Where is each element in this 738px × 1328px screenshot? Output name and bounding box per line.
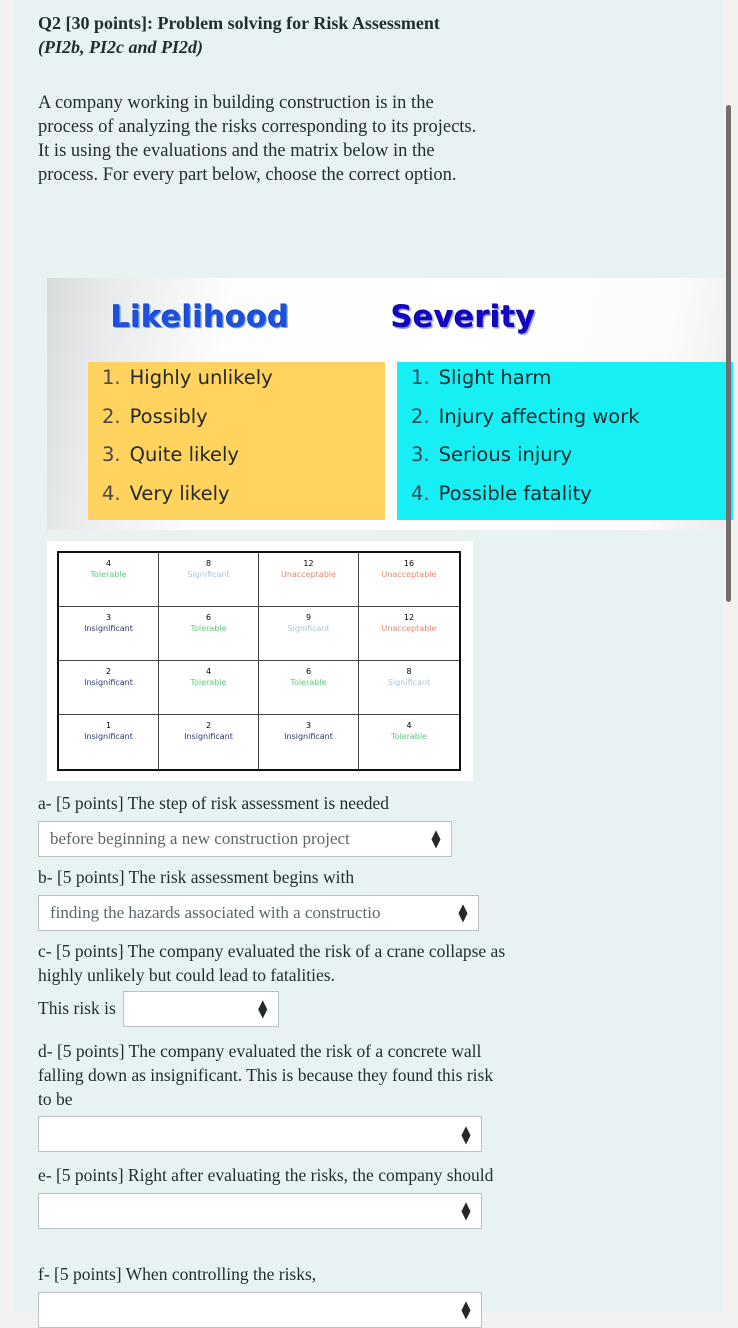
matrix-cell-level: Unacceptable bbox=[259, 570, 358, 581]
question-part-b: b- [5 points] The risk assessment begins… bbox=[38, 866, 508, 931]
severity-item-label: Serious injury bbox=[439, 445, 573, 465]
matrix-cell-value: 12 bbox=[259, 559, 358, 570]
table-cell: 12 Unacceptable bbox=[359, 607, 459, 661]
list-item: 2. Injury affecting work bbox=[397, 407, 733, 446]
list-item: 1. Highly unlikely bbox=[88, 368, 385, 407]
matrix-cell-level: Insignificant bbox=[59, 624, 158, 635]
part-a-prompt: a- [5 points] The step of risk assessmen… bbox=[38, 792, 478, 816]
question-part-e: e- [5 points] Right after evaluating the… bbox=[38, 1164, 508, 1229]
question-part-a: a- [5 points] The step of risk assessmen… bbox=[38, 792, 478, 857]
likelihood-list: 1. Highly unlikely 2. Possibly 3. Quite … bbox=[88, 362, 385, 520]
chevron-updown-icon: ▲▼ bbox=[459, 1124, 473, 1145]
chevron-updown-icon: ▲▼ bbox=[429, 828, 443, 849]
list-item: 4. Very likely bbox=[88, 484, 385, 523]
list-item: 2. Possibly bbox=[88, 407, 385, 446]
question-part-c: c- [5 points] The company evaluated the … bbox=[38, 940, 508, 1027]
table-cell: 2 Insignificant bbox=[159, 715, 259, 769]
table-cell: 12 Unacceptable bbox=[259, 553, 359, 607]
question-part-d: d- [5 points] The company evaluated the … bbox=[38, 1040, 508, 1152]
severity-item-num: 2. bbox=[411, 407, 430, 427]
matrix-cell-level: Insignificant bbox=[59, 732, 158, 743]
part-c-select[interactable]: ▲▼ bbox=[123, 991, 279, 1027]
matrix-cell-level: Tolerable bbox=[159, 678, 258, 689]
likelihood-heading: Likelihood bbox=[111, 300, 290, 335]
part-e-select[interactable]: ▲▼ bbox=[38, 1193, 482, 1229]
matrix-cell-level: Unacceptable bbox=[359, 570, 459, 581]
chevron-updown-icon: ▲▼ bbox=[456, 902, 470, 923]
chevron-updown-icon: ▲▼ bbox=[459, 1200, 473, 1221]
likelihood-item-num: 3. bbox=[102, 445, 121, 465]
table-cell: 6 Tolerable bbox=[159, 607, 259, 661]
list-item: 3. Serious injury bbox=[397, 445, 733, 484]
likelihood-severity-figure: Likelihood Severity 1. Highly unlikely 2… bbox=[47, 278, 723, 530]
table-cell: 3 Insignificant bbox=[259, 715, 359, 769]
matrix-cell-value: 9 bbox=[259, 613, 358, 624]
matrix-cell-value: 6 bbox=[259, 667, 358, 678]
scrollbar-track[interactable] bbox=[725, 0, 736, 1312]
matrix-cell-level: Tolerable bbox=[159, 624, 258, 635]
table-cell: 8 Significant bbox=[359, 661, 459, 715]
table-cell: 4 Tolerable bbox=[59, 553, 159, 607]
severity-item-num: 1. bbox=[411, 368, 430, 388]
matrix-cell-value: 16 bbox=[359, 559, 459, 570]
part-c-prompt: c- [5 points] The company evaluated the … bbox=[38, 940, 508, 988]
part-d-prompt: d- [5 points] The company evaluated the … bbox=[38, 1040, 508, 1111]
matrix-cell-value: 2 bbox=[59, 667, 158, 678]
severity-item-label: Injury affecting work bbox=[439, 407, 640, 427]
matrix-cell-value: 3 bbox=[259, 721, 358, 732]
list-item: 1. Slight harm bbox=[397, 368, 733, 407]
question-part-f: f- [5 points] When controlling the risks… bbox=[38, 1263, 508, 1328]
scrollbar-thumb[interactable] bbox=[726, 105, 731, 602]
severity-item-label: Possible fatality bbox=[439, 484, 592, 504]
matrix-cell-level: Unacceptable bbox=[359, 624, 459, 635]
matrix-cell-value: 2 bbox=[159, 721, 258, 732]
matrix-cell-value: 1 bbox=[59, 721, 158, 732]
risk-matrix-figure: 4 Tolerable 8 Significant 12 Unacceptabl… bbox=[47, 541, 473, 781]
list-item: 4. Possible fatality bbox=[397, 484, 733, 523]
matrix-cell-value: 6 bbox=[159, 613, 258, 624]
matrix-cell-level: Significant bbox=[359, 678, 459, 689]
matrix-cell-level: Significant bbox=[259, 624, 358, 635]
page-title: Q2 [30 points]: Problem solving for Risk… bbox=[38, 12, 468, 60]
matrix-cell-level: Insignificant bbox=[59, 678, 158, 689]
risk-matrix-table: 4 Tolerable 8 Significant 12 Unacceptabl… bbox=[57, 551, 461, 771]
part-c-lead-text: This risk is bbox=[38, 998, 123, 1019]
table-cell: 16 Unacceptable bbox=[359, 553, 459, 607]
likelihood-item-num: 4. bbox=[102, 484, 121, 504]
part-b-prompt: b- [5 points] The risk assessment begins… bbox=[38, 866, 508, 890]
part-b-select[interactable]: finding the hazards associated with a co… bbox=[38, 895, 479, 931]
matrix-cell-level: Tolerable bbox=[359, 732, 459, 743]
table-cell: 4 Tolerable bbox=[359, 715, 459, 769]
part-f-prompt: f- [5 points] When controlling the risks… bbox=[38, 1263, 508, 1287]
question-body-text: A company working in building constructi… bbox=[38, 91, 490, 187]
chevron-updown-icon: ▲▼ bbox=[256, 998, 270, 1019]
severity-heading: Severity bbox=[391, 300, 536, 335]
likelihood-item-label: Quite likely bbox=[130, 445, 239, 465]
page-root: Q2 [30 points]: Problem solving for Risk… bbox=[0, 0, 738, 1312]
matrix-cell-value: 4 bbox=[59, 559, 158, 570]
matrix-cell-value: 8 bbox=[359, 667, 459, 678]
severity-item-num: 4. bbox=[411, 484, 430, 504]
part-a-selected-value: before beginning a new construction proj… bbox=[50, 829, 429, 849]
table-cell: 2 Insignificant bbox=[59, 661, 159, 715]
part-b-selected-value: finding the hazards associated with a co… bbox=[50, 903, 456, 923]
severity-item-num: 3. bbox=[411, 445, 430, 465]
severity-item-label: Slight harm bbox=[439, 368, 552, 388]
likelihood-item-num: 2. bbox=[102, 407, 121, 427]
matrix-cell-value: 4 bbox=[159, 667, 258, 678]
table-cell: 3 Insignificant bbox=[59, 607, 159, 661]
likelihood-item-label: Possibly bbox=[130, 407, 208, 427]
list-item: 3. Quite likely bbox=[88, 445, 385, 484]
matrix-cell-value: 12 bbox=[359, 613, 459, 624]
table-cell: 1 Insignificant bbox=[59, 715, 159, 769]
matrix-cell-level: Tolerable bbox=[259, 678, 358, 689]
part-d-select[interactable]: ▲▼ bbox=[38, 1116, 482, 1152]
matrix-cell-level: Tolerable bbox=[59, 570, 158, 581]
question-title-main: Q2 [30 points]: Problem solving for Risk… bbox=[38, 13, 440, 33]
part-e-prompt: e- [5 points] Right after evaluating the… bbox=[38, 1164, 508, 1188]
table-cell: 8 Significant bbox=[159, 553, 259, 607]
matrix-cell-value: 3 bbox=[59, 613, 158, 624]
matrix-cell-value: 4 bbox=[359, 721, 459, 732]
table-cell: 4 Tolerable bbox=[159, 661, 259, 715]
table-cell: 6 Tolerable bbox=[259, 661, 359, 715]
matrix-cell-level: Insignificant bbox=[259, 732, 358, 743]
question-title-pi: (PI2b, PI2c and PI2d) bbox=[38, 37, 203, 57]
part-c-answer-row: This risk is ▲▼ bbox=[38, 991, 508, 1027]
matrix-cell-level: Significant bbox=[159, 570, 258, 581]
chevron-updown-icon: ▲▼ bbox=[459, 1299, 473, 1320]
matrix-cell-value: 8 bbox=[159, 559, 258, 570]
severity-list: 1. Slight harm 2. Injury affecting work … bbox=[397, 362, 733, 520]
part-f-select[interactable]: ▲▼ bbox=[38, 1292, 482, 1328]
question-content-area: Q2 [30 points]: Problem solving for Risk… bbox=[14, 0, 723, 1312]
table-cell: 9 Significant bbox=[259, 607, 359, 661]
likelihood-item-label: Very likely bbox=[130, 484, 230, 504]
likelihood-item-label: Highly unlikely bbox=[130, 368, 273, 388]
part-a-select[interactable]: before beginning a new construction proj… bbox=[38, 821, 452, 857]
matrix-cell-level: Insignificant bbox=[159, 732, 258, 743]
likelihood-item-num: 1. bbox=[102, 368, 121, 388]
